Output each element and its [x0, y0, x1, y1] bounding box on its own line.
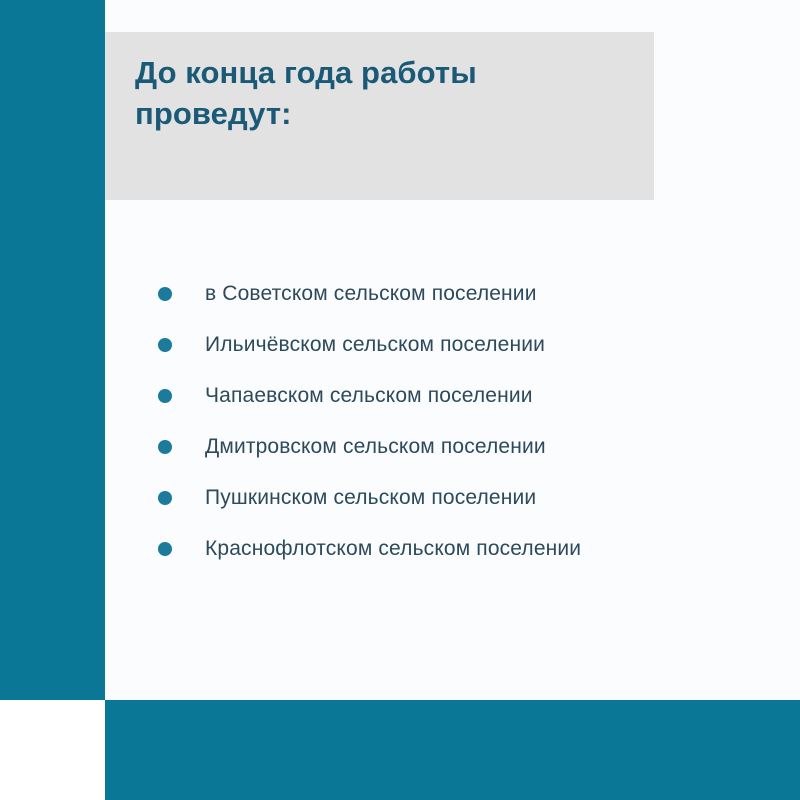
page-title: До конца года работы проведут:: [135, 52, 635, 134]
list-item: Дмитровском сельском поселении: [158, 421, 778, 472]
list-item-label: Пушкинском сельском поселении: [205, 485, 778, 511]
list-item-label: Чапаевском сельском поселении: [205, 383, 778, 409]
list-item: Краснофлотском сельском поселении: [158, 523, 778, 574]
left-accent-bar: [0, 0, 105, 700]
list-item: Чапаевском сельском поселении: [158, 370, 778, 421]
list-item-label: в Советском сельском поселении: [205, 281, 778, 307]
bullet-dot-icon: [158, 491, 172, 505]
list-item: Ильичёвском сельском поселении: [158, 319, 778, 370]
poster-canvas: До конца года работы проведут: в Советск…: [0, 0, 800, 800]
bullet-dot-icon: [158, 338, 172, 352]
bullet-dot-icon: [158, 287, 172, 301]
list-item-label: Дмитровском сельском поселении: [205, 434, 778, 460]
settlement-list: в Советском сельском поселении Ильичёвск…: [158, 268, 778, 574]
bullet-dot-icon: [158, 440, 172, 454]
list-item-label: Краснофлотском сельском поселении: [205, 536, 778, 562]
bullet-dot-icon: [158, 389, 172, 403]
bullet-dot-icon: [158, 542, 172, 556]
list-item: в Советском сельском поселении: [158, 268, 778, 319]
list-item-label: Ильичёвском сельском поселении: [205, 332, 778, 358]
list-item: Пушкинском сельском поселении: [158, 472, 778, 523]
bottom-accent-bar: [105, 700, 800, 800]
